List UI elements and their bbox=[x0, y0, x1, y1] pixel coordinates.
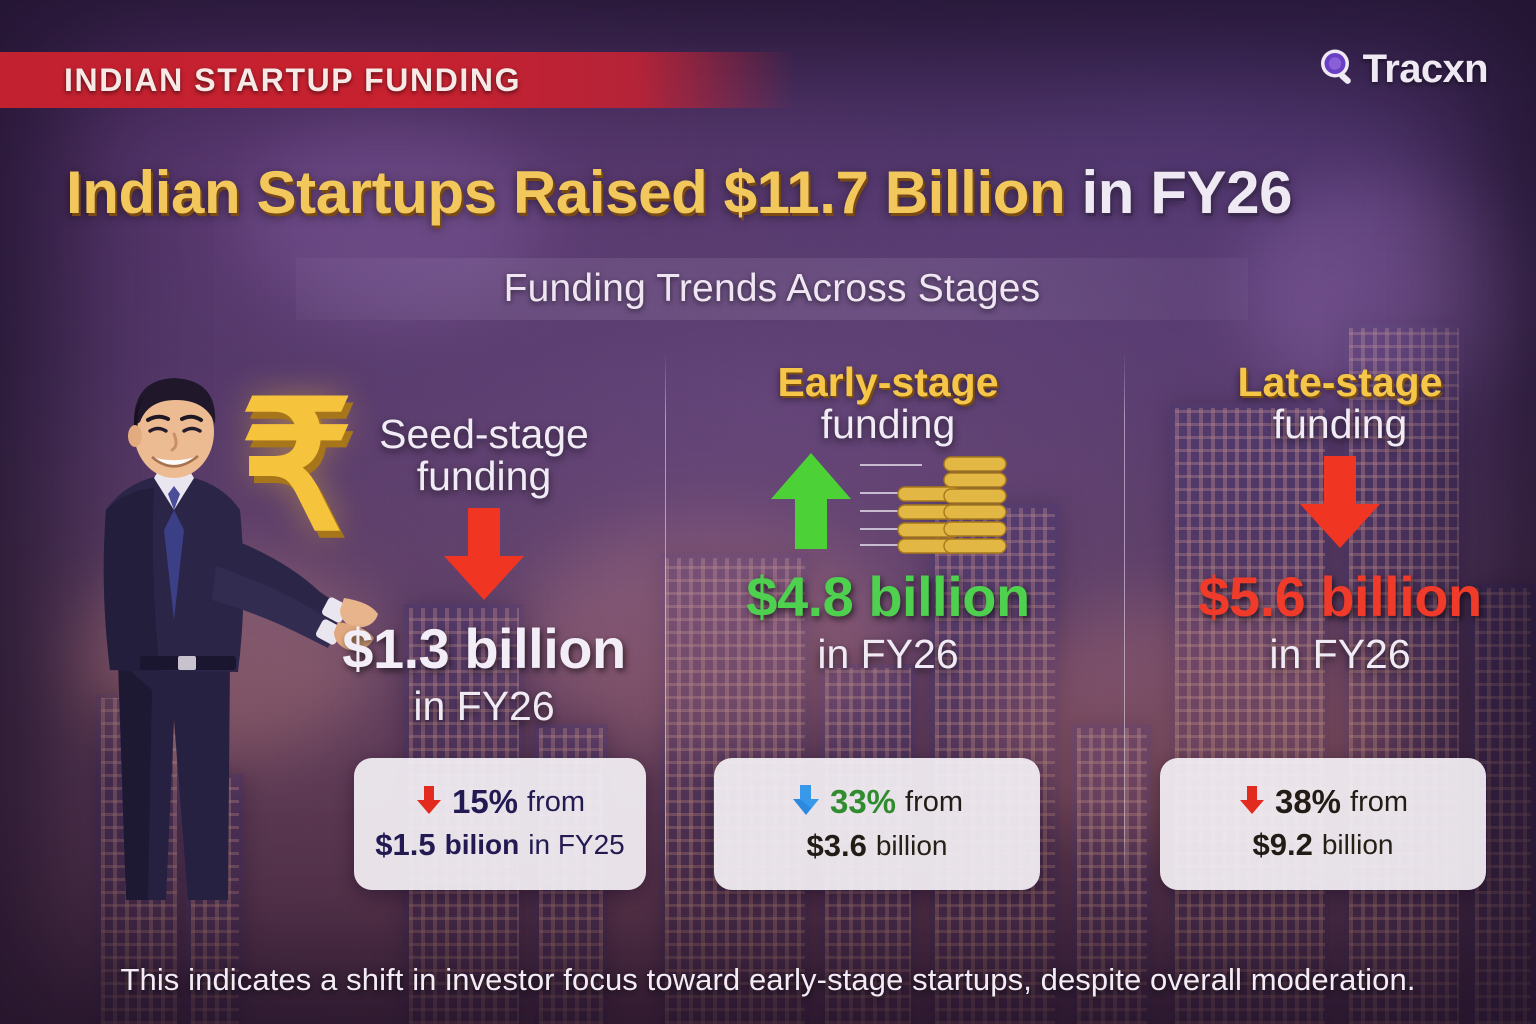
headline-gold: Indian Startups Raised $11.7 Billion bbox=[66, 159, 1065, 226]
stage-amount-late: $5.6 billion bbox=[1130, 564, 1536, 629]
stat-card-line-top: 15% from bbox=[374, 783, 626, 821]
stat-prev-tail: in FY25 bbox=[528, 829, 625, 861]
subtitle-label: Funding Trends Across Stages bbox=[504, 267, 1041, 311]
stat-from-label: from bbox=[905, 786, 963, 819]
stage-title-line1: Seed-stage bbox=[379, 411, 589, 457]
kicker-banner: INDIAN STARTUP FUNDING bbox=[0, 52, 795, 108]
stage-amount-seed: $1.3 billion bbox=[274, 616, 694, 681]
logo-wordmark: Tracxn bbox=[1363, 47, 1488, 92]
arrow-down-red-icon bbox=[441, 504, 527, 609]
stage-title-seed: Seed-stage funding bbox=[274, 414, 694, 498]
arrow-down-blue-icon bbox=[791, 783, 821, 822]
column-divider bbox=[1124, 352, 1125, 900]
stat-card-early: 33% from $3.6 billion bbox=[714, 758, 1040, 890]
stage-title-line2: funding bbox=[417, 453, 552, 499]
stage-title-line1: Early-stage bbox=[777, 359, 998, 405]
stat-prev-amount: $3.6 bbox=[807, 828, 867, 864]
arrow-down-red-icon bbox=[1297, 452, 1383, 557]
stage-title-line2: funding bbox=[1273, 401, 1408, 447]
page-title: Indian Startups Raised $11.7 Billion in … bbox=[66, 158, 1466, 227]
trend-arrow-row-early bbox=[678, 446, 1098, 564]
stat-change-pct: 15% bbox=[452, 783, 518, 821]
stage-period-seed: in FY26 bbox=[274, 683, 694, 730]
stat-from-label: from bbox=[527, 786, 585, 819]
arrow-down-red-icon bbox=[415, 784, 443, 821]
stat-prev-unit: bilion bbox=[445, 829, 520, 861]
trend-arrow-row-seed bbox=[274, 498, 694, 616]
stat-change-pct: 38% bbox=[1275, 783, 1341, 821]
stat-prev-unit: billion bbox=[876, 830, 948, 862]
stage-column-seed: Seed-stage funding $1.3 billion in FY26 bbox=[274, 414, 694, 730]
stat-from-label: from bbox=[1350, 786, 1408, 819]
arrow-down-red-icon bbox=[1238, 784, 1266, 821]
kicker-label: INDIAN STARTUP FUNDING bbox=[64, 62, 521, 99]
stat-card-seed: 15% from $1.5 bilion in FY25 bbox=[354, 758, 646, 890]
coin-stacks-icon bbox=[858, 449, 1008, 560]
headline-white: in FY26 bbox=[1065, 159, 1292, 226]
footer-caption: This indicates a shift in investor focus… bbox=[0, 962, 1536, 998]
stat-card-line-bottom: $3.6 billion bbox=[734, 828, 1020, 864]
stage-column-late: Late-stage funding $5.6 billion in FY26 bbox=[1130, 362, 1536, 678]
stat-prev-amount: $1.5 bbox=[375, 827, 435, 863]
stat-prev-amount: $9.2 bbox=[1253, 827, 1313, 863]
stage-title-line1: Late-stage bbox=[1237, 359, 1442, 405]
stat-card-line-bottom: $1.5 bilion in FY25 bbox=[374, 827, 626, 863]
tracxn-logo[interactable]: Tracxn bbox=[1317, 46, 1488, 93]
stat-card-line-top: 33% from bbox=[734, 783, 1020, 822]
stage-period-early: in FY26 bbox=[678, 631, 1098, 678]
trend-arrow-row-late bbox=[1130, 446, 1536, 564]
stage-title-late: Late-stage funding bbox=[1130, 362, 1536, 446]
stat-prev-unit: billion bbox=[1322, 829, 1394, 861]
stat-card-line-bottom: $9.2 billion bbox=[1180, 827, 1466, 863]
stage-title-early: Early-stage funding bbox=[678, 362, 1098, 446]
stat-card-late: 38% from $9.2 billion bbox=[1160, 758, 1486, 890]
subtitle-panel: Funding Trends Across Stages bbox=[296, 258, 1248, 320]
arrow-up-green-icon bbox=[768, 449, 854, 560]
stage-title-line2: funding bbox=[821, 401, 956, 447]
magnifier-icon bbox=[1317, 46, 1359, 93]
stat-change-pct: 33% bbox=[830, 783, 896, 821]
stage-period-late: in FY26 bbox=[1130, 631, 1536, 678]
stat-card-line-top: 38% from bbox=[1180, 783, 1466, 821]
stage-column-early: Early-stage funding bbox=[678, 362, 1098, 678]
stage-amount-early: $4.8 billion bbox=[678, 564, 1098, 629]
